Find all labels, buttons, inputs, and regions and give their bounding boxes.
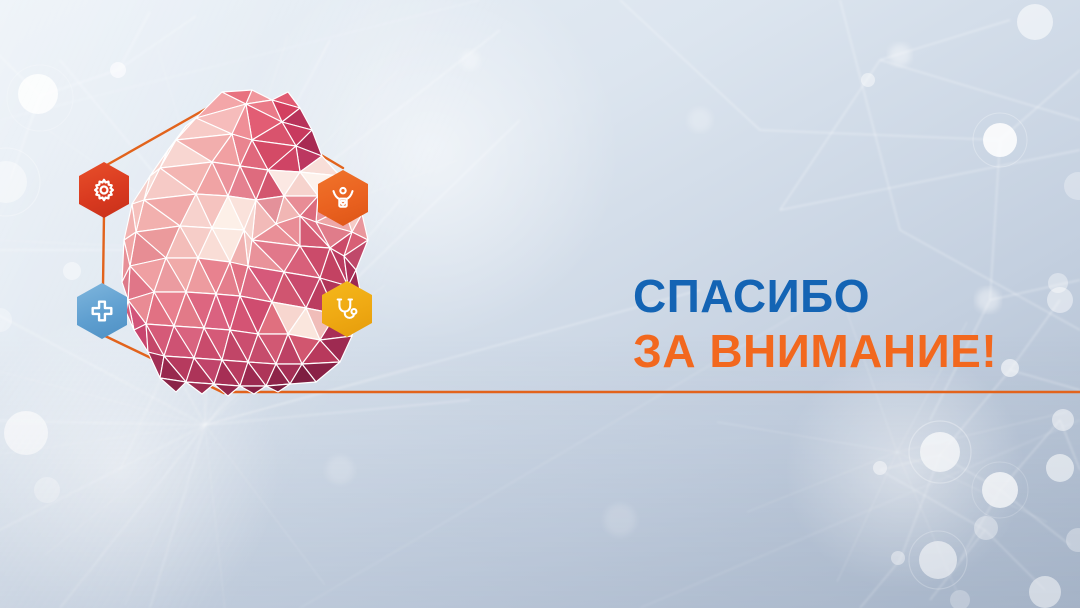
headline-block: СПАСИБО ЗА ВНИМАНИЕ! (633, 273, 997, 374)
gear-icon (91, 177, 117, 203)
badge-hex-stethoscope[interactable] (322, 281, 372, 337)
headline-line-2: ЗА ВНИМАНИЕ! (633, 328, 997, 374)
badge-hex-gear[interactable] (79, 162, 129, 218)
person-raised-arms-icon (330, 185, 356, 211)
stethoscope-icon (334, 296, 360, 322)
low-poly-heart (122, 90, 368, 396)
headline-line-1: СПАСИБО (633, 273, 997, 319)
medical-cross-icon (89, 298, 115, 324)
slide-canvas: СПАСИБО ЗА ВНИМАНИЕ! (0, 0, 1080, 608)
badge-hex-medical-cross[interactable] (77, 283, 127, 339)
badge-hex-person[interactable] (318, 170, 368, 226)
